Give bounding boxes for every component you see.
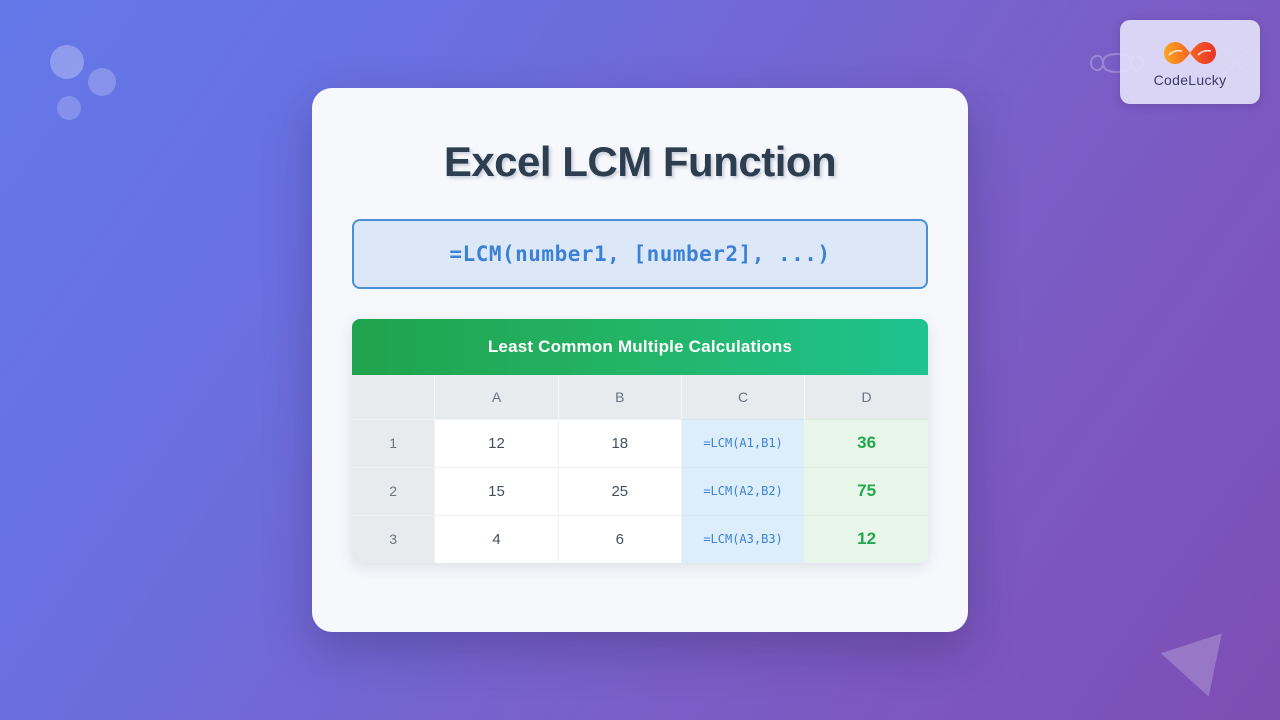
column-header-d: D — [805, 375, 928, 419]
content-card: Excel LCM Function =LCM(number1, [number… — [312, 88, 968, 632]
syntax-text: =LCM(number1, [number2], ...) — [449, 242, 830, 266]
column-header-c: C — [681, 375, 804, 419]
cell-formula[interactable]: =LCM(A3,B3) — [681, 515, 804, 563]
cell-result[interactable]: 75 — [805, 467, 928, 515]
cell-b[interactable]: 6 — [558, 515, 681, 563]
cell-a[interactable]: 12 — [435, 419, 558, 467]
table-row: 3 4 6 =LCM(A3,B3) 12 — [352, 515, 928, 563]
row-number: 2 — [352, 467, 435, 515]
row-number: 3 — [352, 515, 435, 563]
cell-a[interactable]: 4 — [435, 515, 558, 563]
cell-result[interactable]: 36 — [805, 419, 928, 467]
calculations-table: A B C D 1 12 18 =LCM(A1,B1) 36 2 15 25 — [352, 375, 928, 563]
column-header-corner — [352, 375, 435, 419]
cell-formula[interactable]: =LCM(A2,B2) — [681, 467, 804, 515]
page-title: Excel LCM Function — [312, 138, 968, 186]
decor-circle-small — [57, 96, 81, 120]
cell-result[interactable]: 12 — [805, 515, 928, 563]
column-header-a: A — [435, 375, 558, 419]
table-row: 1 12 18 =LCM(A1,B1) 36 — [352, 419, 928, 467]
column-header-b: B — [558, 375, 681, 419]
infinity-icon — [1157, 36, 1223, 70]
sheet-title: Least Common Multiple Calculations — [352, 319, 928, 375]
spreadsheet: Least Common Multiple Calculations A B C… — [352, 319, 928, 563]
logo-text: CodeLucky — [1154, 72, 1227, 88]
cell-formula[interactable]: =LCM(A1,B1) — [681, 419, 804, 467]
decor-circle-large — [50, 45, 84, 79]
cell-a[interactable]: 15 — [435, 467, 558, 515]
row-number: 1 — [352, 419, 435, 467]
table-header-row: A B C D — [352, 375, 928, 419]
decor-circle-medium — [88, 68, 116, 96]
syntax-box: =LCM(number1, [number2], ...) — [352, 219, 928, 289]
cell-b[interactable]: 25 — [558, 467, 681, 515]
table-row: 2 15 25 =LCM(A2,B2) 75 — [352, 467, 928, 515]
cell-b[interactable]: 18 — [558, 419, 681, 467]
decor-triangle — [1161, 633, 1239, 706]
logo-badge[interactable]: CodeLucky — [1120, 20, 1260, 104]
